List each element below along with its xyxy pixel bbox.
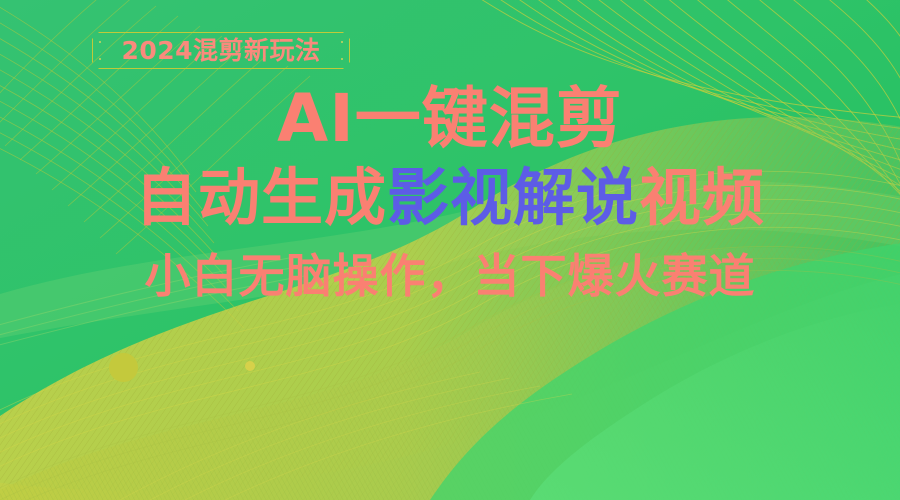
headline-block: AI一键混剪 自动生成影视解说视频 小白无脑操作，当下爆火赛道 <box>0 86 900 299</box>
badge-corner-dot-top-right <box>341 41 343 43</box>
promo-poster: 2024混剪新玩法 AI一键混剪 自动生成影视解说视频 小白无脑操作，当下爆火赛… <box>0 0 900 500</box>
promo-badge-label: 2024混剪新玩法 <box>121 38 320 63</box>
headline-line-2-segment-1: 自动生成 <box>135 161 387 234</box>
headline-line-1: AI一键混剪 <box>0 86 900 152</box>
badge-corner-dot-bottom-right <box>341 58 343 60</box>
headline-line-3-segment-1: 小白无脑操作，当下爆火赛道 <box>145 249 756 303</box>
badge-corner-dot-bottom-left <box>99 58 101 60</box>
headline-line-1-segment-1: AI一键混剪 <box>277 80 623 157</box>
badge-corner-dot-top-left <box>99 41 101 43</box>
headline-line-3: 小白无脑操作，当下爆火赛道 <box>0 253 900 299</box>
decorative-circle-large <box>109 353 138 382</box>
headline-line-2-segment-2: 影视解说 <box>387 161 639 234</box>
decorative-circle-small <box>245 361 255 371</box>
promo-badge: 2024混剪新玩法 <box>92 32 350 69</box>
headline-line-2: 自动生成影视解说视频 <box>0 167 900 229</box>
headline-line-2-segment-3: 视频 <box>639 161 765 234</box>
